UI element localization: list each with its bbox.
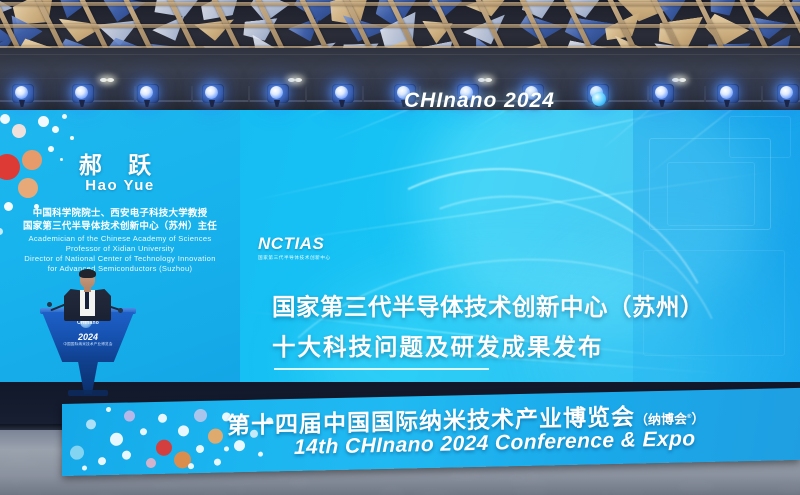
podium-subtitle-text: 中国国际纳米技术产业博览会 bbox=[62, 342, 114, 347]
podium-year-text: 2024 bbox=[66, 332, 110, 342]
stage-light bbox=[330, 84, 354, 108]
stage-light bbox=[715, 84, 739, 108]
downlight bbox=[107, 78, 114, 82]
speaker-title-cn-2: 国家第三代半导体技术创新中心（苏州）主任 bbox=[0, 218, 240, 232]
stage-light-lens bbox=[140, 86, 153, 99]
stage-light bbox=[70, 84, 94, 108]
downlight bbox=[478, 78, 485, 82]
stage-light bbox=[650, 84, 674, 108]
stage-light-lens bbox=[15, 86, 28, 99]
stage-light-lens bbox=[205, 86, 218, 99]
stage-light-lens bbox=[270, 86, 283, 99]
downlight bbox=[679, 78, 686, 82]
microphone-head-right bbox=[118, 308, 123, 313]
speaker-title-en-1: Academician of the Chinese Academy of Sc… bbox=[0, 234, 240, 245]
screen-headline-line1: 国家第三代半导体技术创新中心（苏州） bbox=[272, 288, 704, 322]
speaker-title-en-2: Professor of Xidian University bbox=[0, 244, 240, 255]
stage-light bbox=[135, 84, 159, 108]
venue-brand-dot-icon bbox=[592, 92, 606, 106]
nctias-logo-text: NCTIAS bbox=[258, 234, 331, 254]
downlight bbox=[485, 78, 492, 82]
screen-right-column bbox=[633, 110, 800, 382]
stage-light-lens bbox=[75, 86, 88, 99]
venue-chinano-brand: CHInano 2024 bbox=[404, 89, 555, 113]
ceiling-structure bbox=[0, 0, 800, 50]
stage-light-lens bbox=[720, 86, 733, 99]
downlight bbox=[100, 78, 107, 82]
stage-light bbox=[775, 84, 799, 108]
downlight bbox=[288, 78, 295, 82]
downlight bbox=[295, 78, 302, 82]
stage-light-lens bbox=[335, 86, 348, 99]
stage-light-lens bbox=[780, 86, 793, 99]
ceiling-geometric-panels bbox=[0, 0, 800, 50]
nctias-logo-subtitle: 国家第三代半导体技术创新中心 bbox=[258, 255, 331, 261]
podium-and-speaker: CHInano 2024 中国国际纳米技术产业博览会 bbox=[28, 272, 148, 402]
stage-light-lens bbox=[655, 86, 668, 99]
nctias-logo: NCTIAS 国家第三代半导体技术创新中心 bbox=[258, 234, 331, 261]
speaker-title-en-3: Director of National Center of Technolog… bbox=[0, 254, 240, 265]
stage-light bbox=[200, 84, 224, 108]
speaker-title-cn-1: 中国科学院院士、西安电子科技大学教授 bbox=[0, 205, 240, 219]
microphone-head-left bbox=[47, 302, 52, 307]
stage-light bbox=[265, 84, 289, 108]
headline-divider bbox=[274, 368, 489, 370]
downlight bbox=[672, 78, 679, 82]
speaker-name-cn: 郝 跃 bbox=[0, 146, 240, 180]
speaker-name-en: Hao Yue bbox=[0, 177, 240, 194]
conference-stage-photo: 郝 跃 Hao Yue 中国科学院院士、西安电子科技大学教授 国家第三代半导体技… bbox=[0, 0, 800, 495]
stage-light bbox=[10, 84, 34, 108]
screen-headline-line2: 十大科技问题及研发成果发布 bbox=[272, 328, 604, 362]
